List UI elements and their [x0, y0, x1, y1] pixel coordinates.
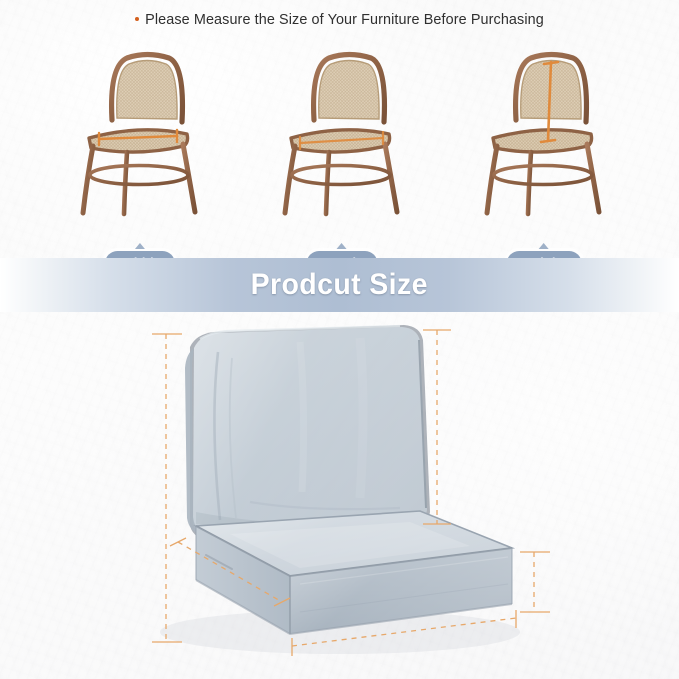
banner-title: Prodcut Size [251, 268, 428, 302]
dimension-line-total-height [152, 334, 182, 642]
infographic-page: Please Measure the Size of Your Furnitur… [0, 0, 679, 679]
badge-marker-icon [337, 243, 347, 249]
chair-width: Width [42, 42, 238, 252]
dimension-line-thickness [520, 552, 550, 612]
measure-note: Please Measure the Size of Your Furnitur… [0, 12, 679, 28]
chair-illustration [469, 42, 619, 227]
chair-row: Width [0, 42, 679, 252]
chair-height: Height [446, 42, 642, 252]
badge-marker-icon [135, 243, 145, 249]
cushion-illustration [0, 312, 679, 679]
product-size-banner: Prodcut Size [0, 258, 679, 312]
measure-note-text: Please Measure the Size of Your Furnitur… [145, 12, 544, 28]
badge-marker-icon [539, 243, 549, 249]
chair-depth: Depth [244, 42, 440, 252]
bullet-dot-icon [135, 17, 139, 21]
chair-illustration [65, 42, 215, 227]
chair-illustration [267, 42, 417, 227]
product-diagram: 27" 21" 6" 24" 24" 6 Inches [0, 312, 679, 679]
